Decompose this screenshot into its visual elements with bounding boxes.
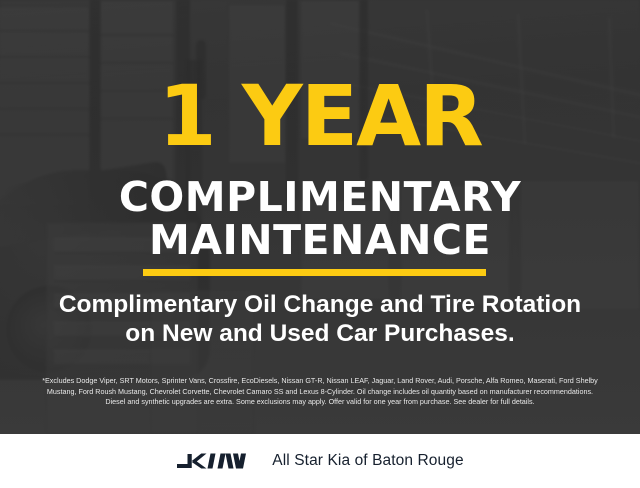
promotional-banner: 1 YEAR COMPLIMENTARY MAINTENANCE Complim… bbox=[0, 0, 640, 488]
hero-content: 1 YEAR COMPLIMENTARY MAINTENANCE Complim… bbox=[0, 0, 640, 434]
promo-text-line1: Complimentary Oil Change and Tire Rotati… bbox=[0, 291, 640, 319]
disclaimer-line-1: *Excludes Dodge Viper, SRT Motors, Sprin… bbox=[14, 376, 626, 387]
disclaimer-line-3: Diesel and synthetic upgrades are extra.… bbox=[14, 397, 626, 408]
disclaimer-line-2: Mustang, Ford Roush Mustang, Chevrolet C… bbox=[14, 387, 626, 398]
promo-text-line2: on New and Used Car Purchases. bbox=[0, 320, 640, 348]
headline-secondary-line2: MAINTENANCE bbox=[0, 220, 640, 261]
disclaimer-text: *Excludes Dodge Viper, SRT Motors, Sprin… bbox=[14, 376, 626, 408]
dealer-name: All Star Kia of Baton Rouge bbox=[272, 452, 463, 470]
footer-bar: All Star Kia of Baton Rouge bbox=[0, 434, 640, 488]
kia-logo-icon bbox=[176, 450, 254, 472]
footer-brand-lockup: All Star Kia of Baton Rouge bbox=[176, 450, 463, 472]
hero-section: 1 YEAR COMPLIMENTARY MAINTENANCE Complim… bbox=[0, 0, 640, 434]
headline-secondary-line1: COMPLIMENTARY bbox=[0, 177, 640, 218]
accent-divider bbox=[143, 269, 486, 276]
headline-primary: 1 YEAR bbox=[0, 74, 640, 158]
